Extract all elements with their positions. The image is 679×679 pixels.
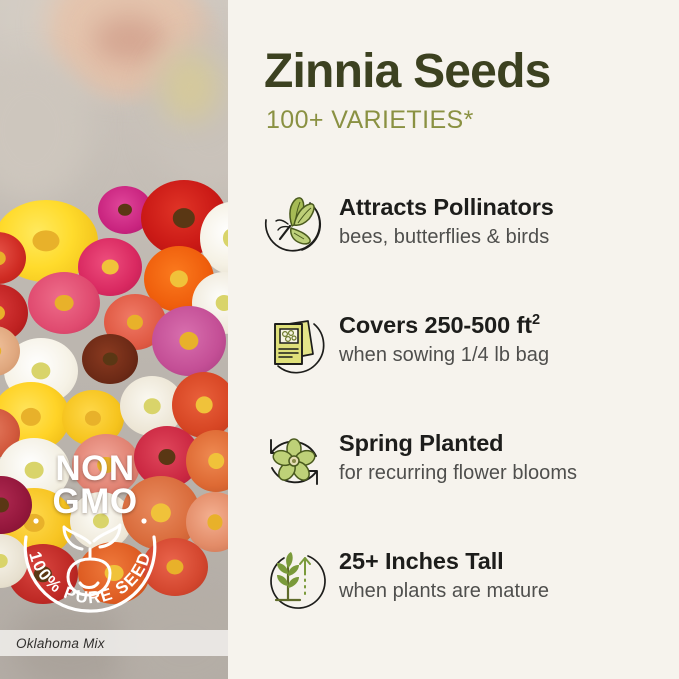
recurring-bloom-icon <box>258 426 330 498</box>
feature-subline: bees, butterflies & birds <box>339 225 554 249</box>
badge-line-1: NON <box>30 452 160 485</box>
page-subtitle: 100+ VARIETIES* <box>266 108 474 133</box>
feature-subline: when sowing 1/4 lb bag <box>339 343 549 367</box>
feature-text: Spring Planted for recurring flower bloo… <box>339 418 577 485</box>
seed-packets-icon <box>258 308 330 380</box>
product-photo: NON GMO <box>0 0 228 679</box>
flower <box>82 334 138 384</box>
feature-row-spring-planted: Spring Planted for recurring flower bloo… <box>228 418 679 536</box>
butterfly-icon <box>258 190 330 262</box>
feature-row-coverage: Covers 250-500 ft2 when sowing 1/4 lb ba… <box>228 300 679 418</box>
feature-row-pollinators: Attracts Pollinators bees, butterflies &… <box>228 182 679 300</box>
feature-row-height: 25+ Inches Tall when plants are mature <box>228 536 679 654</box>
feature-text: Attracts Pollinators bees, butterflies &… <box>339 182 554 249</box>
photo-caption: Oklahoma Mix <box>16 636 105 651</box>
plant-height-icon <box>258 544 330 616</box>
badge-seal: 100% PURE SEED <box>14 507 166 619</box>
feature-subline: for recurring flower blooms <box>339 461 577 485</box>
photo-caption-bar: Oklahoma Mix <box>0 630 228 656</box>
non-gmo-badge: NON GMO <box>8 452 176 624</box>
feature-headline: 25+ Inches Tall <box>339 548 549 576</box>
feature-headline: Covers 250-500 ft2 <box>339 312 549 340</box>
product-infographic: NON GMO <box>0 0 679 679</box>
photo-blur-shape <box>160 52 220 122</box>
flower <box>28 272 100 334</box>
page-title: Zinnia Seeds <box>264 48 551 96</box>
content-panel: Zinnia Seeds 100+ VARIETIES* <box>228 0 679 679</box>
feature-text: Covers 250-500 ft2 when sowing 1/4 lb ba… <box>339 300 549 367</box>
feature-headline: Attracts Pollinators <box>339 194 554 222</box>
feature-headline: Spring Planted <box>339 430 577 458</box>
photo-blur-shape <box>92 16 166 64</box>
flower <box>152 306 226 376</box>
feature-text: 25+ Inches Tall when plants are mature <box>339 536 549 603</box>
feature-subline: when plants are mature <box>339 579 549 603</box>
feature-list: Attracts Pollinators bees, butterflies &… <box>228 182 679 654</box>
feature-headline-superscript: 2 <box>532 312 540 328</box>
feature-headline-main: Covers 250-500 ft <box>339 312 532 338</box>
